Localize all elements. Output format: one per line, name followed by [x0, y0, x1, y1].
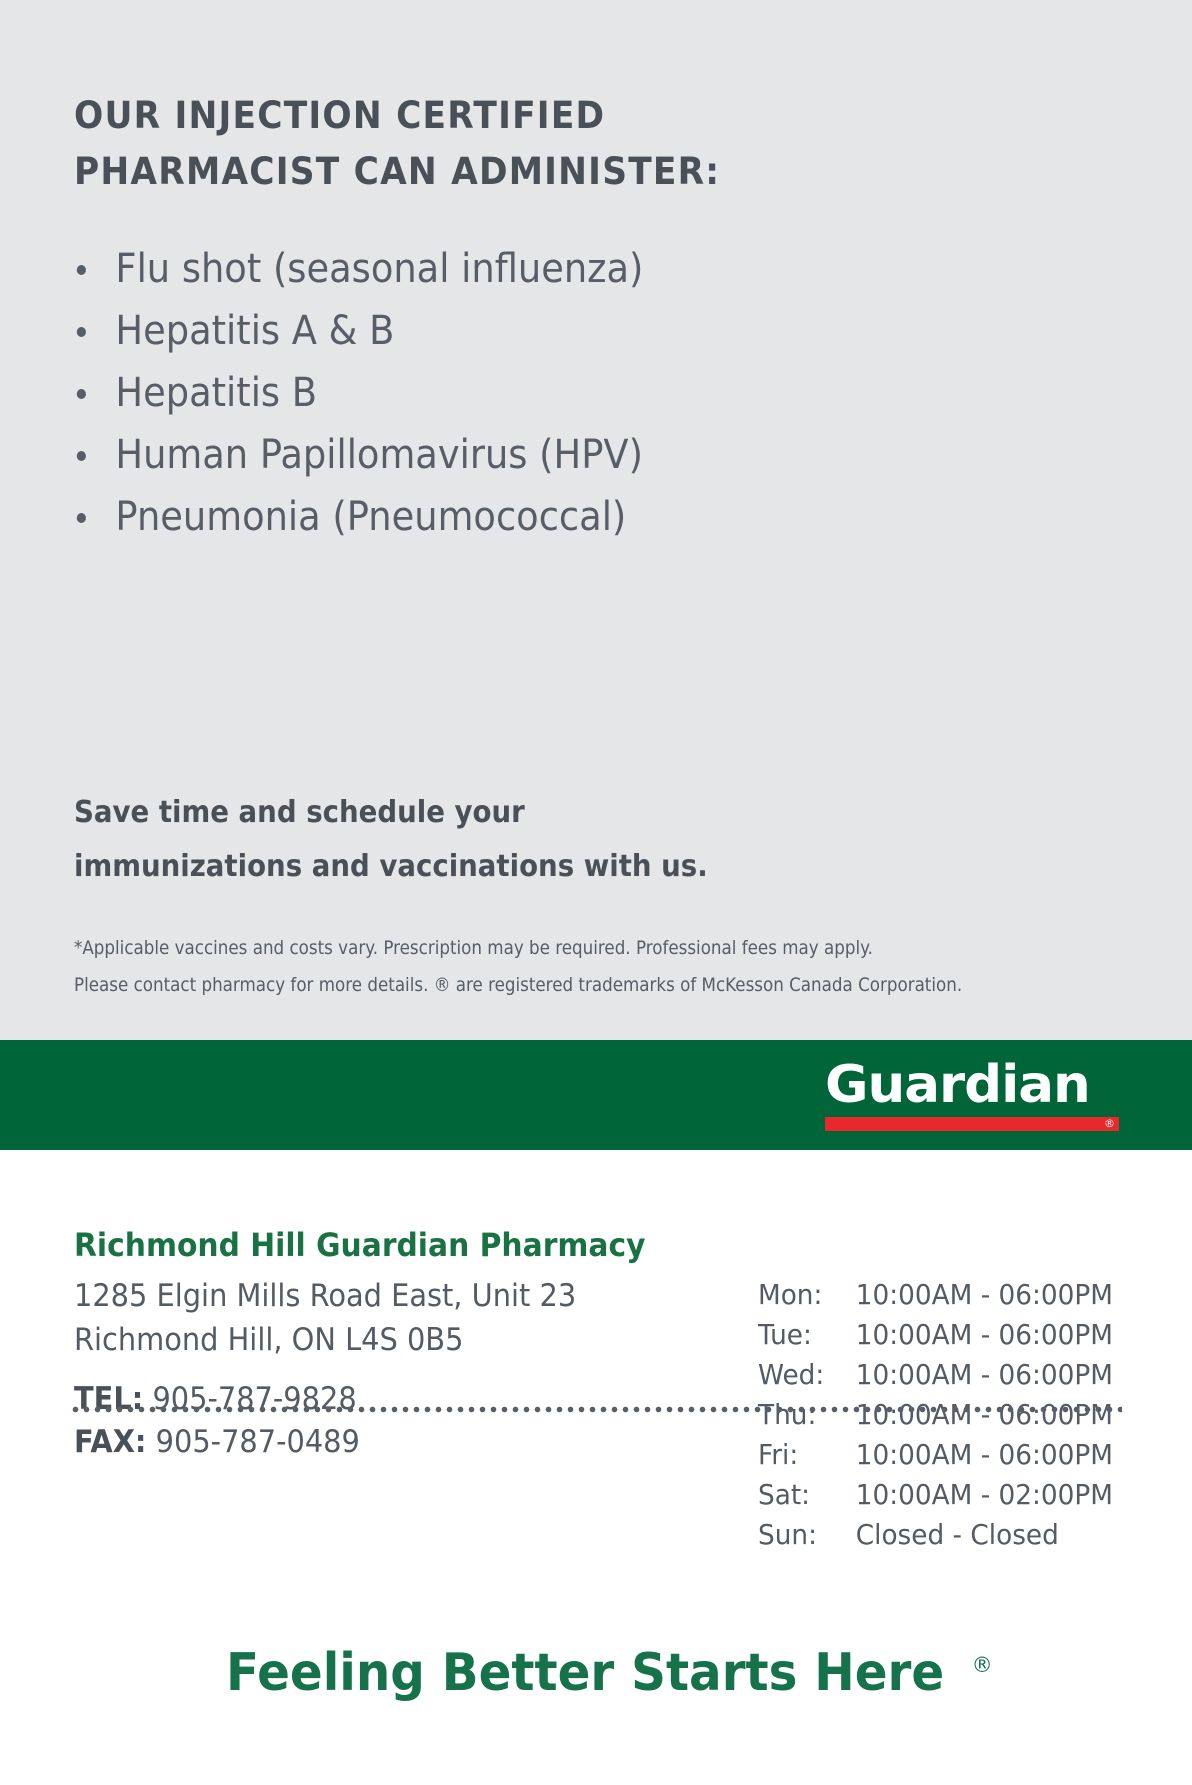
hours-day: Fri: — [758, 1440, 856, 1480]
hours-time: 10:00AM - 06:00PM — [856, 1440, 1113, 1480]
list-item-label: Pneumonia (Pneumococcal) — [115, 494, 626, 540]
fax-label: FAX: — [74, 1424, 146, 1460]
list-item: Hepatitis B — [74, 362, 902, 424]
brand-tagline: Feeling Better Starts Here® — [0, 1632, 1192, 1706]
bullet-icon — [77, 451, 86, 461]
store-address: 1285 Elgin Mills Road East, Unit 23 Rich… — [74, 1274, 576, 1362]
hours-time: Closed - Closed — [856, 1520, 1113, 1560]
guardian-logo-wordmark: Guardian — [825, 1056, 1125, 1114]
store-name: Richmond Hill Guardian Pharmacy — [74, 1225, 646, 1265]
hours-day: Sun: — [758, 1520, 856, 1560]
list-item-label: Hepatitis A & B — [115, 308, 394, 354]
table-row: Mon: 10:00AM - 06:00PM — [758, 1280, 1113, 1320]
table-row: Fri: 10:00AM - 06:00PM — [758, 1440, 1113, 1480]
bullet-icon — [77, 265, 86, 275]
bullet-icon — [77, 389, 86, 399]
guardian-logo: Guardian ® — [825, 1056, 1119, 1131]
tagline-registered-trademark-icon: ® — [972, 1653, 993, 1677]
hours-day: Mon: — [758, 1280, 856, 1320]
page-title-line-2: PHARMACIST CAN ADMINISTER: — [74, 144, 818, 200]
store-address-line-1: 1285 Elgin Mills Road East, Unit 23 — [74, 1274, 576, 1318]
vaccine-list: Flu shot (seasonal influenza) Hepatitis … — [74, 238, 974, 548]
disclaimer-text: *Applicable vaccines and costs vary. Pre… — [74, 930, 1007, 1004]
hours-time: 10:00AM - 06:00PM — [856, 1360, 1113, 1400]
list-item-label: Human Papillomavirus (HPV) — [115, 432, 643, 478]
list-item: Pneumonia (Pneumococcal) — [74, 486, 902, 548]
table-row: Sun: Closed - Closed — [758, 1520, 1113, 1560]
store-hours-table: Mon: 10:00AM - 06:00PM Tue: 10:00AM - 06… — [758, 1280, 1113, 1560]
hours-time: 10:00AM - 06:00PM — [856, 1320, 1113, 1360]
registered-trademark-icon: ® — [1104, 1118, 1115, 1130]
dotted-divider — [70, 1406, 1122, 1413]
bullet-icon — [77, 513, 86, 523]
guardian-logo-underline: ® — [825, 1117, 1119, 1131]
hours-day: Sat: — [758, 1480, 856, 1520]
store-contact: TEL: 905-787-9828 FAX: 905-787-0489 — [74, 1378, 360, 1464]
call-to-action-text: Save time and schedule your immunization… — [74, 786, 810, 894]
hours-day: Tue: — [758, 1320, 856, 1360]
table-row: Tue: 10:00AM - 06:00PM — [758, 1320, 1113, 1360]
brand-tagline-text: Feeling Better Starts Here — [226, 1640, 944, 1706]
flyer-page: OUR INJECTION CERTIFIED PHARMACIST CAN A… — [0, 0, 1192, 1785]
call-to-action-line-2: immunizations and vaccinations with us. — [74, 840, 810, 894]
hours-day: Wed: — [758, 1360, 856, 1400]
list-item: Flu shot (seasonal influenza) — [74, 238, 902, 300]
page-title: OUR INJECTION CERTIFIED PHARMACIST CAN A… — [74, 88, 818, 200]
store-address-line-2: Richmond Hill, ON L4S 0B5 — [74, 1318, 576, 1362]
brand-bar: Guardian ® — [0, 1040, 1192, 1150]
page-title-line-1: OUR INJECTION CERTIFIED — [74, 88, 818, 144]
fax-value: 905-787-0489 — [156, 1424, 360, 1460]
hours-time: 10:00AM - 02:00PM — [856, 1480, 1113, 1520]
hours-time: 10:00AM - 06:00PM — [856, 1280, 1113, 1320]
bullet-icon — [77, 327, 86, 337]
store-telephone: TEL: 905-787-9828 — [74, 1378, 360, 1421]
list-item-label: Hepatitis B — [115, 370, 317, 416]
list-item: Human Papillomavirus (HPV) — [74, 424, 902, 486]
store-fax: FAX: 905-787-0489 — [74, 1421, 360, 1464]
call-to-action-line-1: Save time and schedule your — [74, 786, 810, 840]
disclaimer-line-1: *Applicable vaccines and costs vary. Pre… — [74, 930, 1007, 967]
list-item: Hepatitis A & B — [74, 300, 902, 362]
table-row: Wed: 10:00AM - 06:00PM — [758, 1360, 1113, 1400]
list-item-label: Flu shot (seasonal influenza) — [115, 246, 643, 292]
table-row: Sat: 10:00AM - 02:00PM — [758, 1480, 1113, 1520]
immunization-panel: OUR INJECTION CERTIFIED PHARMACIST CAN A… — [0, 0, 1192, 1040]
disclaimer-line-2: Please contact pharmacy for more details… — [74, 967, 1007, 1004]
